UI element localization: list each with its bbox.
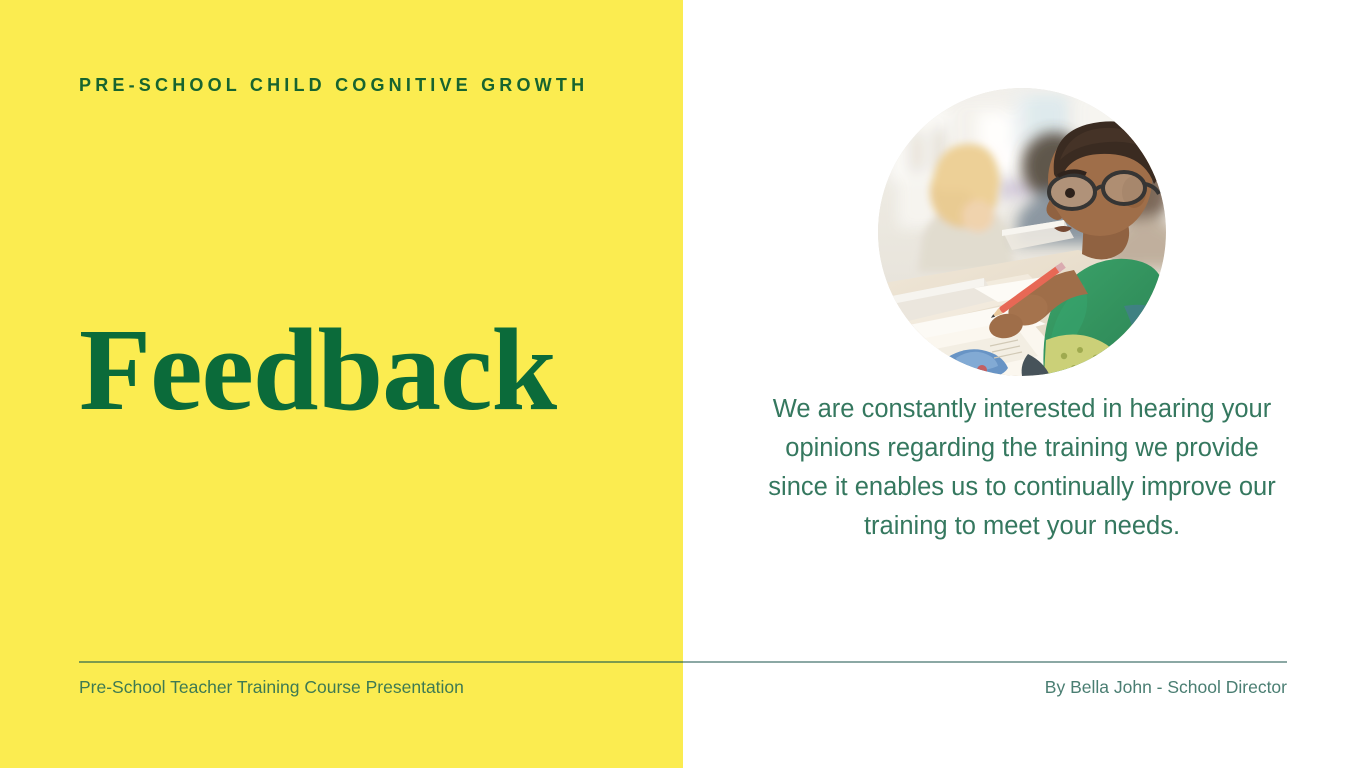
body-paragraph: We are constantly interested in hearing …	[762, 390, 1282, 546]
footer-divider-left	[79, 661, 683, 663]
footer-author-caption: By Bella John - School Director	[687, 675, 1287, 699]
footer-divider-right	[683, 661, 1287, 663]
presentation-slide: PRE-SCHOOL CHILD COGNITIVE GROWTH Feedba…	[0, 0, 1366, 768]
footer-course-caption: Pre-School Teacher Training Course Prese…	[79, 675, 464, 699]
page-title: Feedback	[79, 305, 556, 435]
classroom-children-photo	[878, 88, 1166, 376]
slide-eyebrow-heading: PRE-SCHOOL CHILD COGNITIVE GROWTH	[79, 73, 588, 97]
